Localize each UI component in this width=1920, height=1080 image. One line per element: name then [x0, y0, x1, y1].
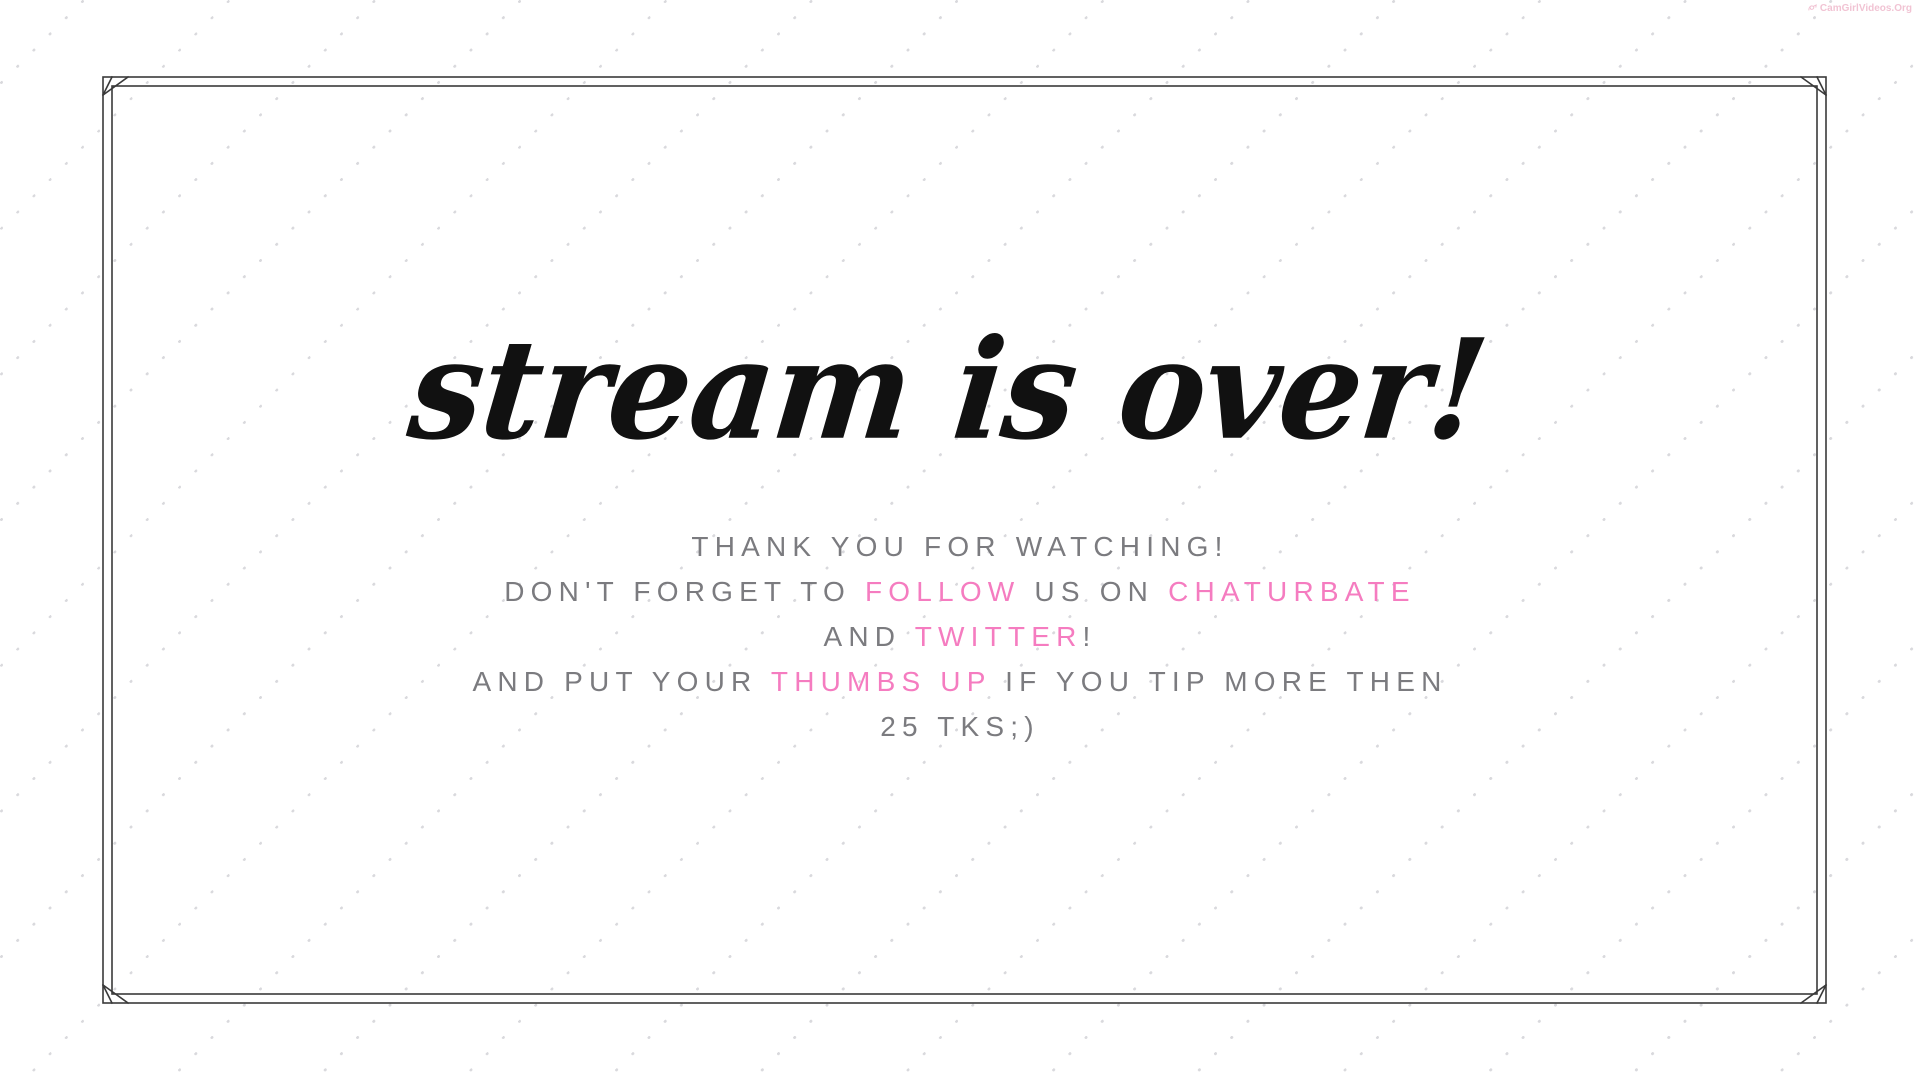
subtitle-segment-3-1: AND: [823, 621, 914, 652]
subtitle-line-5: 25 TKS;): [260, 704, 1660, 749]
subtitle-segment-2-2: FOLLOW: [865, 576, 1020, 607]
overlay-content: stream is over! THANK YOU FOR WATCHING! …: [0, 0, 1920, 1080]
subtitle-segment-5-1: 25 TKS;): [880, 711, 1040, 742]
stream-over-overlay: stream is over! THANK YOU FOR WATCHING! …: [0, 0, 1920, 1080]
page-title: stream is over!: [411, 325, 1486, 455]
subtitle-line-2: DON'T FORGET TO FOLLOW US ON CHATURBATE: [260, 569, 1660, 614]
subtitle-segment-1-1: THANK YOU FOR WATCHING!: [691, 531, 1228, 562]
subtitle-segment-4-2: THUMBS UP: [771, 666, 991, 697]
subtitle-segment-2-4: CHATURBATE: [1168, 576, 1416, 607]
subtitle-line-3: AND TWITTER!: [260, 614, 1660, 659]
subtitle-line-4: AND PUT YOUR THUMBS UP IF YOU TIP MORE T…: [260, 659, 1660, 704]
subtitle-segment-4-3: IF YOU TIP MORE THEN: [991, 666, 1447, 697]
subtitle-segment-3-3: !: [1083, 621, 1097, 652]
subtitle-segment-2-3: US ON: [1020, 576, 1168, 607]
subtitle-segment-4-1: AND PUT YOUR: [472, 666, 770, 697]
subtitle-segment-2-1: DON'T FORGET TO: [504, 576, 865, 607]
subtitle-segment-3-2: TWITTER: [915, 621, 1083, 652]
subtitle-line-1: THANK YOU FOR WATCHING!: [260, 524, 1660, 569]
watermark: CamGirlVideos.Org: [1807, 3, 1912, 14]
subtitle-block: THANK YOU FOR WATCHING! DON'T FORGET TO …: [260, 524, 1660, 749]
watermark-text: CamGirlVideos.Org: [1820, 3, 1912, 14]
camgirl-logo-icon: [1807, 3, 1818, 14]
headline-text: stream is over!: [403, 321, 1492, 459]
